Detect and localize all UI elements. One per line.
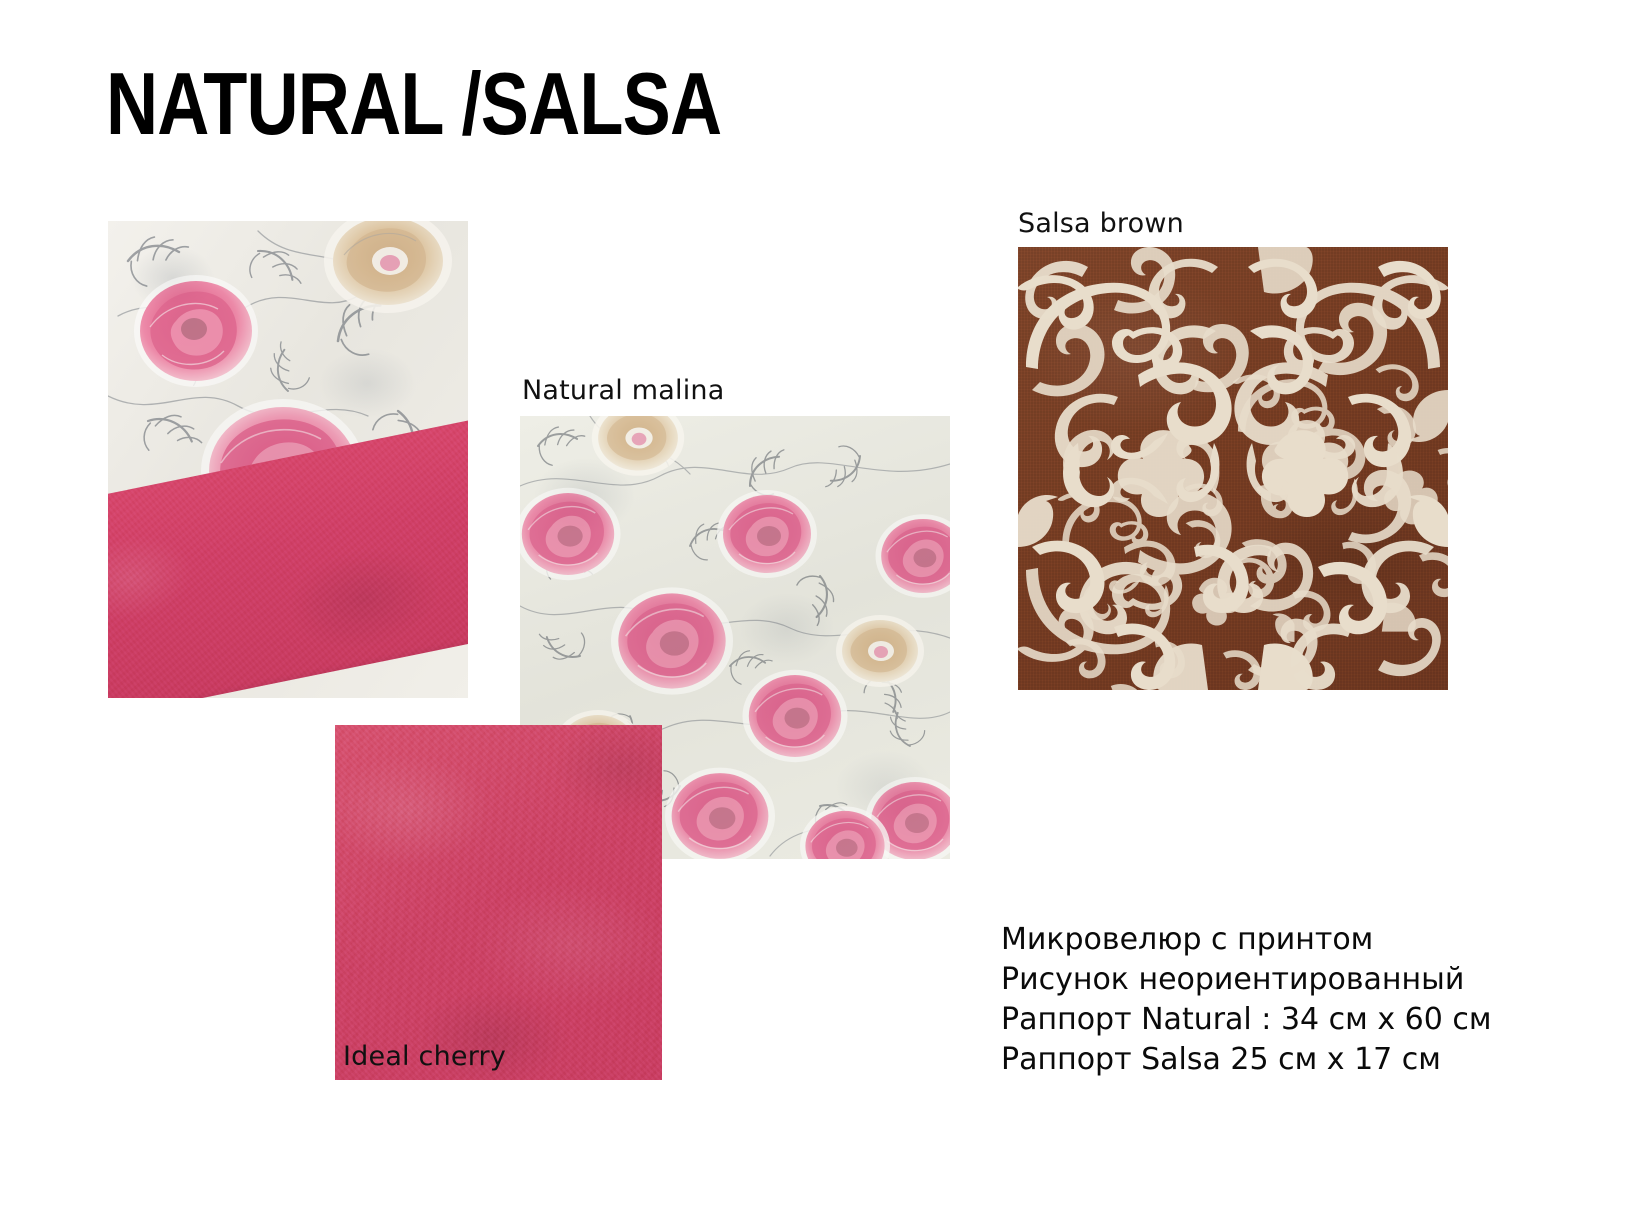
spec-line-pattern-orientation: Рисунок неориентированный [1001,960,1491,1000]
damask-scroll-artwork [1018,247,1448,690]
fabric-swatch-ideal-cherry [335,725,662,1080]
spec-line-repeat-salsa: Раппорт Salsa 25 см х 17 см [1001,1040,1491,1080]
slide-canvas: NATURAL /SALSA [0,0,1634,1224]
swatch-label-salsa-brown: Salsa brown [1018,208,1184,239]
swatch-label-ideal-cherry: Ideal cherry [343,1041,506,1072]
fabric-solid-texture [335,725,662,1080]
spec-line-material: Микровелюр с принтом [1001,920,1491,960]
fabric-swatch-natural-floral [108,221,468,698]
fabric-spec-text: Микровелюр с принтом Рисунок неориентиро… [1001,920,1491,1080]
spec-line-repeat-natural: Раппорт Natural : 34 см х 60 см [1001,1000,1491,1040]
fabric-swatch-salsa-brown [1018,247,1448,690]
page-title: NATURAL /SALSA [106,58,721,150]
swatch-label-natural-malina: Natural malina [522,375,724,406]
